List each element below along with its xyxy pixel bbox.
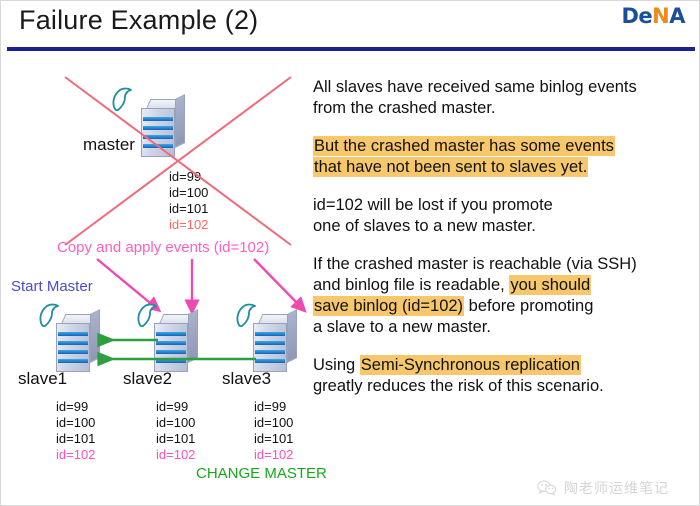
event-item: id=99 — [56, 399, 95, 415]
start-master-note: Start Master — [11, 278, 93, 295]
logo-part-n: N — [652, 4, 669, 28]
event-item: id=101 — [56, 431, 95, 447]
event-item: id=100 — [56, 415, 95, 431]
p4-line2-plain: and binlog file is readable, — [313, 276, 509, 294]
server-label-slave3: slave3 — [222, 369, 271, 389]
page-title: Failure Example (2) — [19, 5, 258, 36]
p3-line2: one of slaves to a new master. — [313, 217, 536, 235]
logo-part-de: De — [621, 4, 652, 28]
change-master-note: CHANGE MASTER — [196, 465, 327, 482]
paragraph-1: All slaves have received same binlog eve… — [313, 77, 697, 119]
paragraph-3: id=102 will be lost if you promote one o… — [313, 195, 697, 237]
wechat-icon — [537, 480, 557, 496]
replication-arrows — [96, 331, 286, 371]
header-divider — [7, 47, 695, 51]
paragraph-4: If the crashed master is reachable (via … — [313, 254, 697, 338]
p3-line1: id=102 will be lost if you promote — [313, 196, 553, 214]
slide-canvas: Failure Example (2) DeNA master id=99 id… — [0, 0, 700, 506]
event-item-new: id=102 — [254, 447, 293, 463]
event-item: id=100 — [156, 415, 195, 431]
server-label-slave2: slave2 — [123, 369, 172, 389]
p2-line1-highlight: But the crashed master has some events — [313, 136, 615, 156]
p4-line1: If the crashed master is reachable (via … — [313, 255, 637, 273]
event-item: id=101 — [156, 431, 195, 447]
p4-line3-plain: before promoting — [464, 297, 593, 315]
p4-line3-highlight: save binlog (id=102) — [313, 296, 464, 316]
watermark-text: 陶老师运维笔记 — [564, 478, 669, 498]
p5-plain1: Using — [313, 356, 360, 374]
copy-apply-events-note: Copy and apply events (id=102) — [57, 239, 269, 256]
p5-highlight: Semi-Synchronous replication — [360, 355, 581, 375]
p1-line2: from the crashed master. — [313, 99, 496, 117]
dena-logo: DeNA — [621, 4, 685, 28]
p5-line2: greatly reduces the risk of this scenari… — [313, 377, 604, 395]
watermark: 陶老师运维笔记 — [537, 478, 669, 498]
p1-line1: All slaves have received same binlog eve… — [313, 78, 637, 96]
server-label-slave1: slave1 — [18, 369, 67, 389]
event-list-slave1: id=99 id=100 id=101 id=102 — [56, 399, 95, 463]
event-item: id=100 — [254, 415, 293, 431]
p4-line4: a slave to a new master. — [313, 318, 491, 336]
paragraph-5: Using Semi-Synchronous replication great… — [313, 355, 697, 397]
p2-line2-highlight: that have not been sent to slaves yet. — [313, 157, 588, 177]
event-item-new: id=102 — [156, 447, 195, 463]
event-item-new: id=102 — [56, 447, 95, 463]
server-slave1 — [56, 314, 100, 372]
logo-part-a: A — [669, 4, 685, 28]
event-list-slave2: id=99 id=100 id=101 id=102 — [156, 399, 195, 463]
paragraph-2: But the crashed master has some events t… — [313, 136, 697, 178]
event-item: id=99 — [156, 399, 195, 415]
crossed-out-marker — [59, 73, 299, 251]
p4-line2-highlight: you should — [509, 275, 591, 295]
event-item: id=101 — [254, 431, 293, 447]
event-item: id=99 — [254, 399, 293, 415]
event-list-slave3: id=99 id=100 id=101 id=102 — [254, 399, 293, 463]
explanation-text: All slaves have received same binlog eve… — [313, 77, 697, 397]
